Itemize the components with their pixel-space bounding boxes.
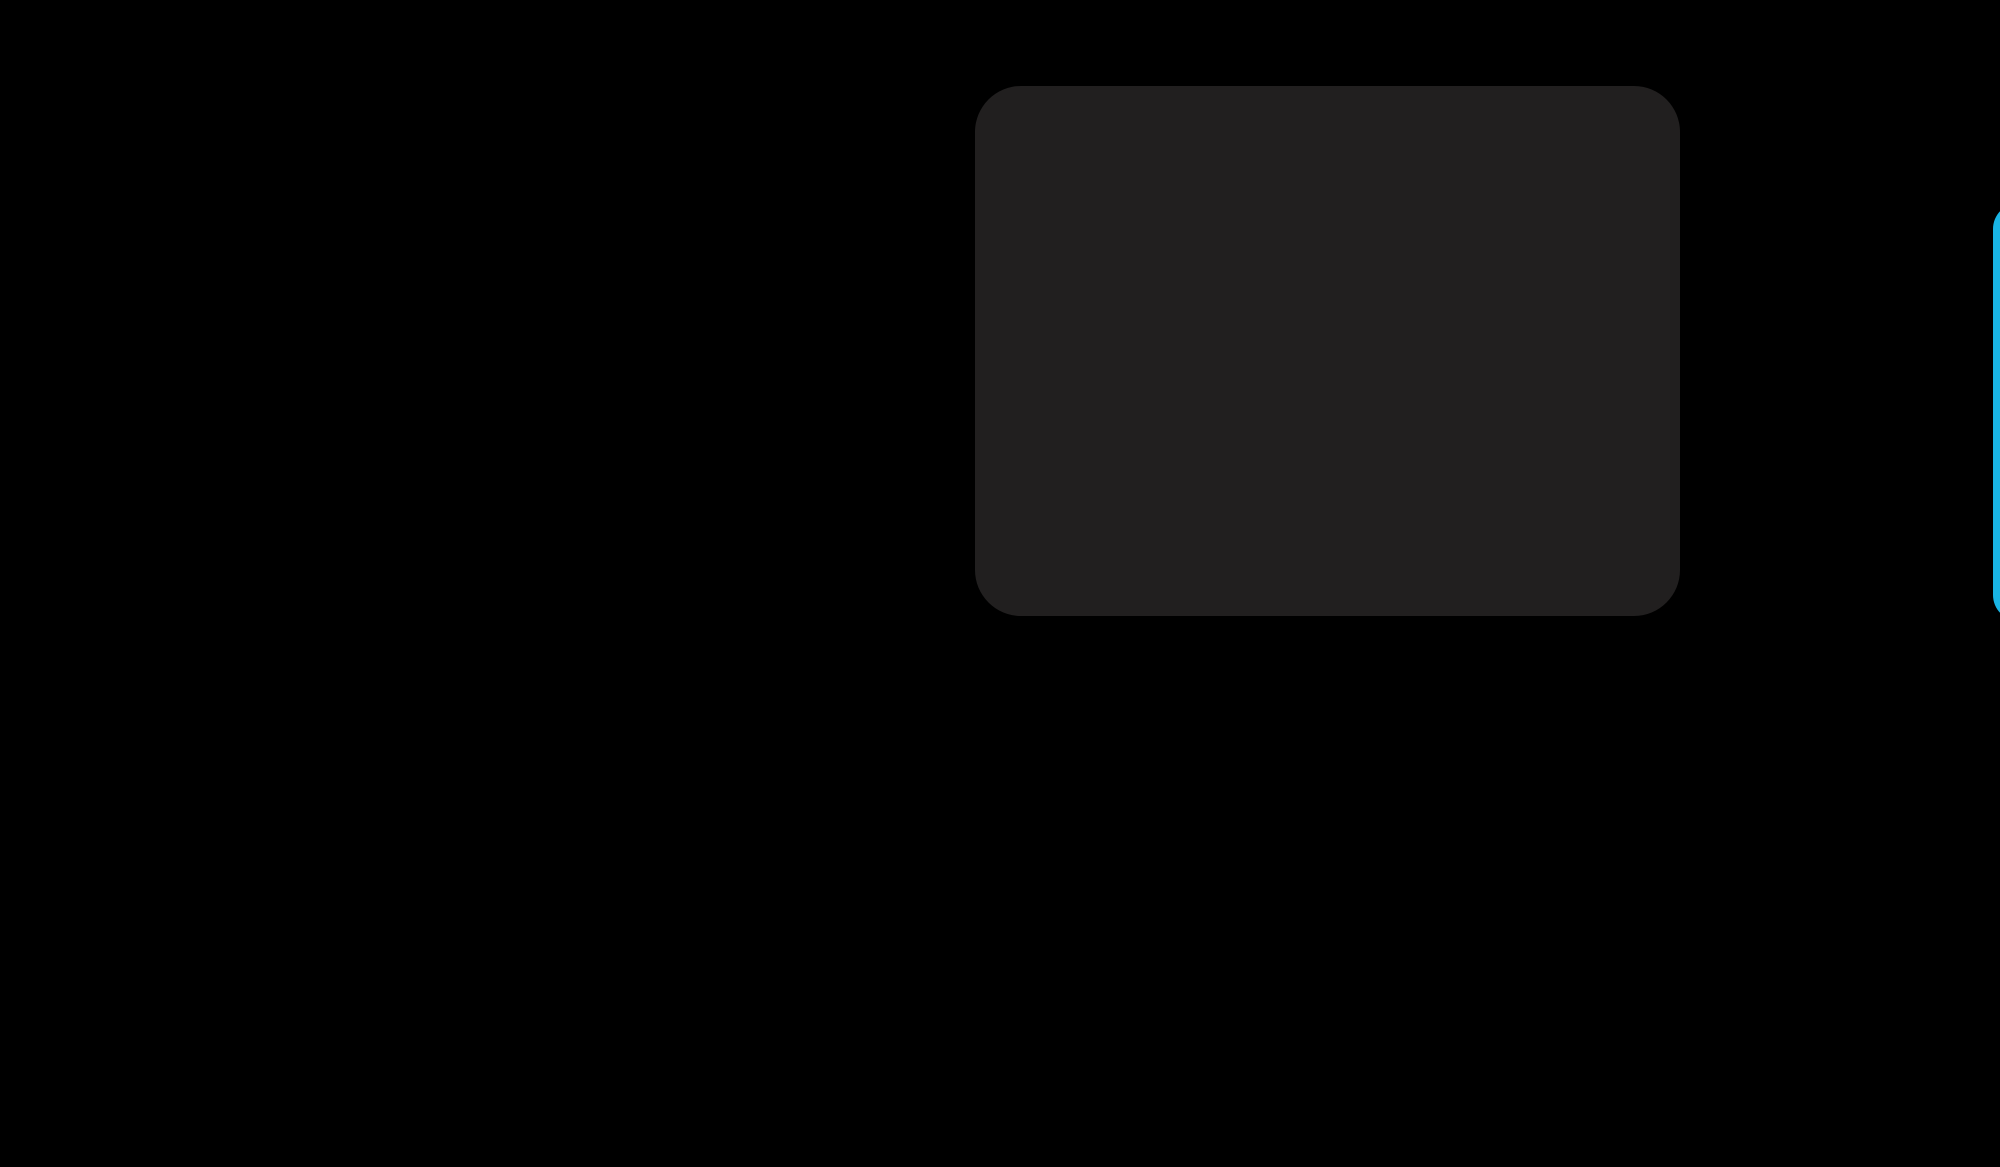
chart-card-frame[interactable]: Weekly Transmissions Received Actual Mod…: [1993, 203, 2000, 621]
widget-panel: Weekly Transmissions Received Actual Mod…: [975, 86, 1680, 616]
